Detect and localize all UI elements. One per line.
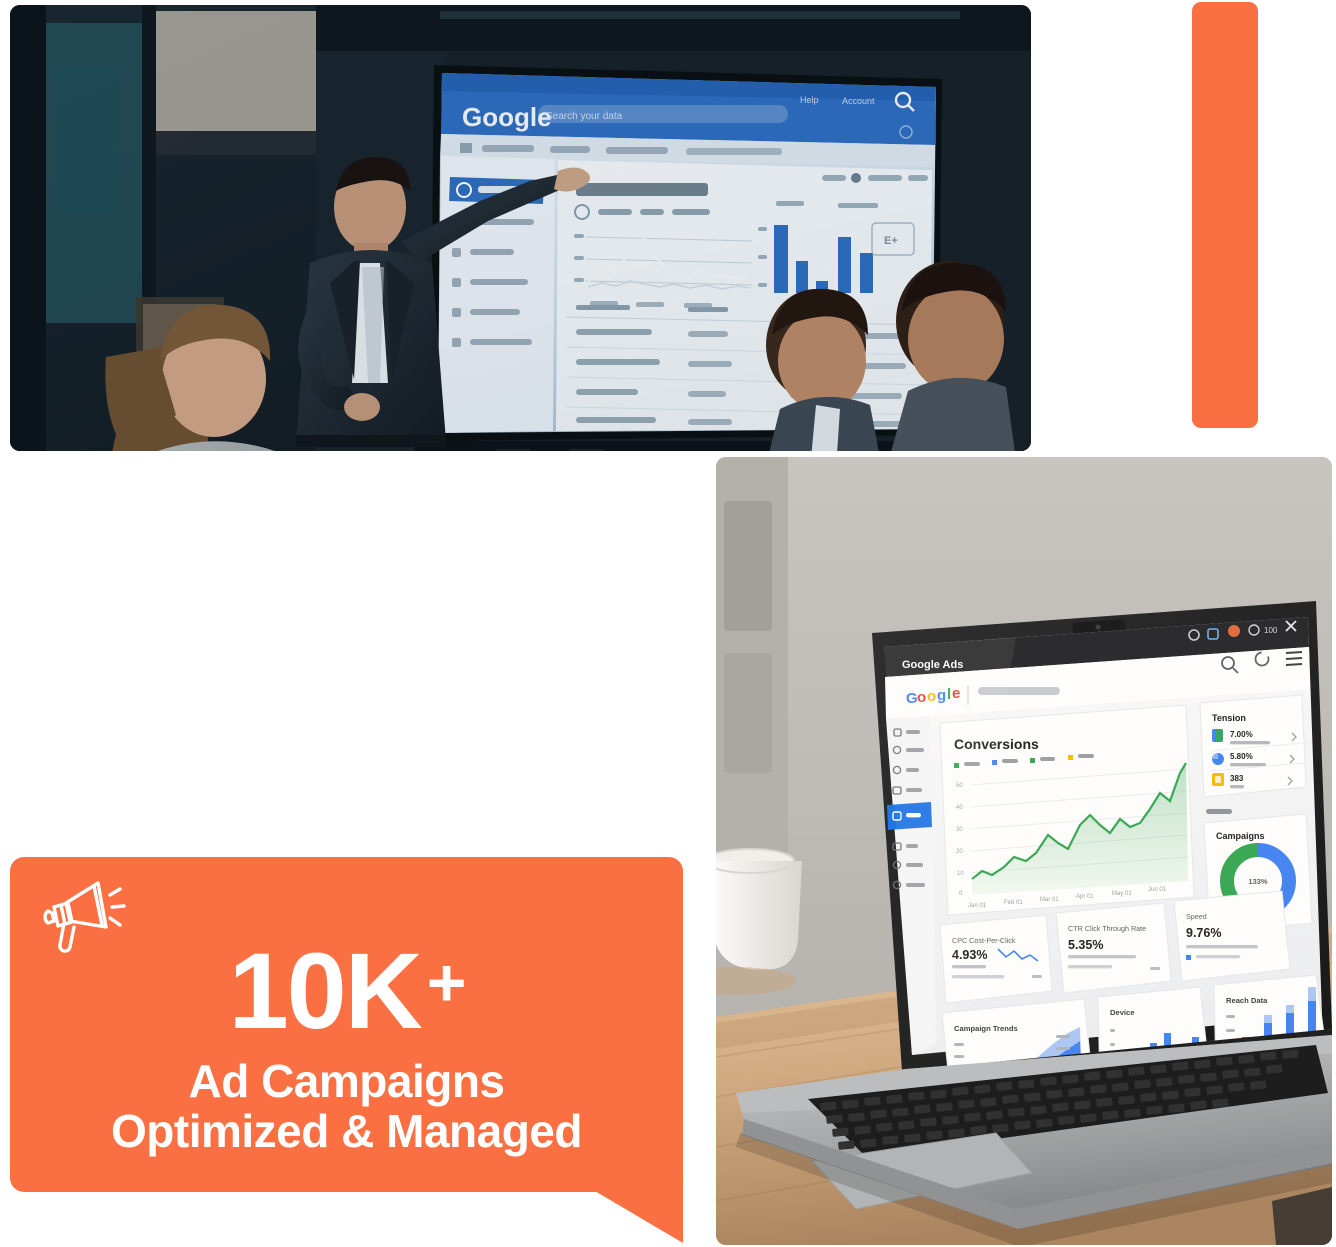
stat-speech-bubble-card: 10K + Ad Campaigns Optimized & Managed xyxy=(10,857,683,1243)
hero-collage: Google Search your data Help Account xyxy=(0,0,1336,1247)
stat-subtitle: Ad Campaigns Optimized & Managed xyxy=(111,1057,582,1156)
laptop-illustration: Google Ads 100 G o xyxy=(716,457,1332,1245)
stat-subtitle-line-2: Optimized & Managed xyxy=(111,1107,582,1157)
laptop-dashboard-photo: Google Ads 100 G o xyxy=(716,457,1332,1245)
stat-number-value: 10K xyxy=(229,937,421,1045)
megaphone-icon xyxy=(36,875,128,953)
stat-number-plus: + xyxy=(427,949,465,1017)
stat-number: 10K + xyxy=(229,937,465,1045)
orange-accent-bar xyxy=(1192,2,1258,428)
conference-room-photo: Google Search your data Help Account xyxy=(10,5,1031,451)
conference-room-illustration: Google Search your data Help Account xyxy=(10,5,1031,451)
stat-subtitle-line-1: Ad Campaigns xyxy=(188,1055,504,1107)
